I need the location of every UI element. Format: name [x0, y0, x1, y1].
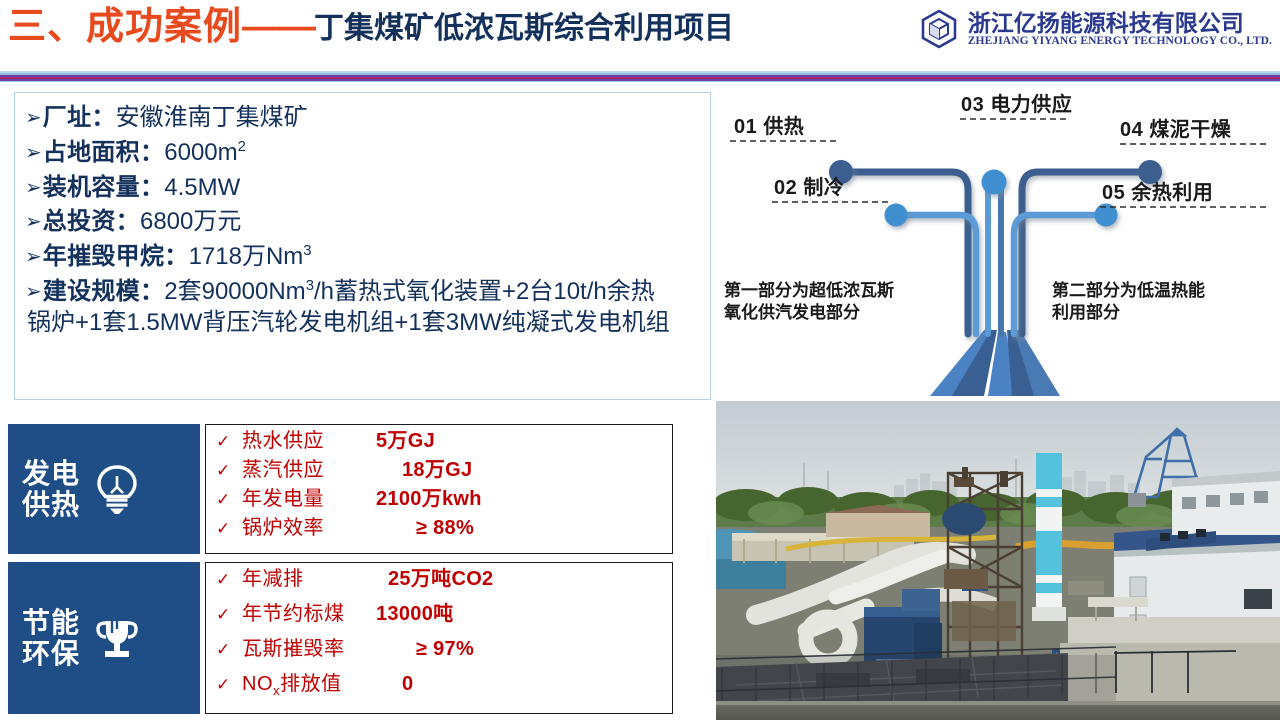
info-label: 年摧毁甲烷：	[43, 242, 189, 271]
diagram-label-num: 01	[734, 116, 757, 138]
slide-header: 三、成功案例 —— 丁集煤矿低浓瓦斯综合利用项目 浙江亿扬能源科技有限公司 ZH…	[0, 0, 1280, 73]
diagram-note-left: 第一部分为超低浓瓦斯 氧化供汽发电部分	[724, 280, 894, 324]
metric-name: 年发电量	[242, 489, 374, 509]
diagram-label-text: 供热	[763, 116, 804, 138]
arrow-bullet-icon: ➢	[25, 175, 42, 199]
metric-value: 2100万kwh	[374, 489, 482, 509]
arrow-bullet-icon: ➢	[25, 209, 42, 233]
plant-photo	[716, 401, 1280, 720]
info-label: 占地面积：	[43, 138, 165, 167]
plant-photo-illustration	[716, 401, 1280, 720]
badge-label: 节能 环保	[22, 607, 80, 670]
diagram-label-num: 04	[1120, 119, 1143, 141]
info-item-investment: ➢ 总投资： 6800万元	[25, 207, 702, 236]
company-logo: 浙江亿扬能源科技有限公司 ZHEJIANG YIYANG ENERGY TECH…	[918, 8, 1272, 50]
arrow-bullet-icon: ➢	[25, 244, 42, 268]
diagram-note-left-line1: 第一部分为超低浓瓦斯	[724, 281, 894, 300]
diagram-note-right-line2: 利用部分	[1052, 303, 1120, 322]
metric-name: 锅炉效率	[242, 518, 374, 538]
arrow-bullet-icon: ➢	[25, 279, 42, 303]
node-02-dot	[885, 204, 908, 227]
diagram-label-num: 05	[1102, 182, 1125, 204]
diagram-note-left-line2: 氧化供汽发电部分	[724, 303, 860, 322]
diagram-label-text: 煤泥干燥	[1149, 119, 1231, 141]
diagram-label-text: 余热利用	[1131, 182, 1213, 204]
diagram-label-05: 05 余热利用	[1102, 176, 1213, 205]
result-panel-energy-saving: 节能 环保 ✓ 年减排 25万吨CO2 ✓	[8, 562, 673, 714]
page-title-dash: ——	[242, 8, 314, 46]
metric-row: ✓ 年发电量 2100万kwh	[216, 489, 672, 518]
metric-row: ✓ 瓦斯摧毁率 ≥ 97%	[216, 639, 672, 674]
metric-name: 瓦斯摧毁率	[242, 639, 374, 659]
info-label: 装机容量：	[43, 173, 165, 202]
info-item-scale-continued: 锅炉+1套1.5MW背压汽轮发电机组+1套3MW纯凝式发电机组	[25, 308, 702, 337]
metrics-list-energy-saving: ✓ 年减排 25万吨CO2 ✓ 年节约标煤 13000吨 ✓ 瓦斯摧毁率 ≥ 9…	[205, 562, 673, 714]
metric-name: 年节约标煤	[242, 604, 374, 624]
info-label: 建设规模：	[43, 277, 165, 306]
metric-row: ✓ 年减排 25万吨CO2	[216, 569, 672, 604]
result-panel-power-heat: 发电 供热 ✓ 热水供应 5万GJ ✓	[8, 424, 673, 554]
diagram-label-03: 03 电力供应	[961, 88, 1072, 117]
badge-label-line1: 节能	[22, 607, 80, 638]
process-tree-diagram: 01 供热 02 制冷 03 电力供应 04 煤泥干燥 05 余热利用 第一部分…	[716, 84, 1280, 398]
metric-value: 18万GJ	[374, 460, 472, 480]
check-icon: ✓	[216, 677, 242, 694]
metric-row: ✓ 锅炉效率 ≥ 88%	[216, 518, 672, 547]
info-value: 安徽淮南丁集煤矿	[116, 103, 308, 132]
metric-name: NOx排放值	[242, 674, 374, 697]
info-label: 厂址：	[43, 103, 116, 132]
lightbulb-icon	[88, 460, 146, 518]
check-icon: ✓	[216, 492, 242, 509]
arrow-bullet-icon: ➢	[25, 140, 42, 164]
info-item-area: ➢ 占地面积： 6000m2	[25, 138, 702, 167]
badge-label-line2: 环保	[22, 638, 80, 669]
check-icon: ✓	[216, 434, 242, 451]
metric-row: ✓ 热水供应 5万GJ	[216, 431, 672, 460]
page-title-sub: 丁集煤矿低浓瓦斯综合利用项目	[314, 14, 734, 46]
metric-value: 5万GJ	[374, 431, 435, 451]
badge-power-heat: 发电 供热	[8, 424, 200, 554]
info-item-scale: ➢ 建设规模： 2套90000Nm3/h蓄热式氧化装置+2台10t/h余热	[25, 277, 702, 306]
diagram-label-02: 02 制冷	[774, 171, 844, 200]
metric-row: ✓ NOx排放值 0	[216, 674, 672, 709]
check-icon: ✓	[216, 572, 242, 589]
check-icon: ✓	[216, 642, 242, 659]
trophy-icon	[88, 609, 146, 667]
hexagon-cube-logo-icon	[918, 8, 960, 50]
badge-label-line2: 供热	[22, 489, 80, 520]
metric-name: 年减排	[242, 569, 374, 589]
company-name-cn: 浙江亿扬能源科技有限公司	[968, 11, 1272, 35]
badge-energy-saving: 节能 环保	[8, 562, 200, 714]
diagram-label-text: 制冷	[803, 177, 844, 199]
info-value: 2套90000Nm3/h蓄热式氧化装置+2台10t/h余热	[164, 277, 654, 306]
info-value: 6000m2	[164, 138, 246, 167]
diagram-label-01: 01 供热	[734, 110, 804, 139]
info-item-methane: ➢ 年摧毁甲烷： 1718万Nm3	[25, 242, 702, 271]
metric-value: 13000吨	[374, 604, 453, 624]
metric-name: 热水供应	[242, 431, 374, 451]
diagram-label-num: 03	[961, 94, 984, 116]
page-title: 三、成功案例 —— 丁集煤矿低浓瓦斯综合利用项目	[8, 8, 734, 46]
page-title-main: 三、成功案例	[8, 8, 242, 46]
check-icon: ✓	[216, 463, 242, 480]
diagram-label-04: 04 煤泥干燥	[1120, 113, 1231, 142]
metric-name: 蒸汽供应	[242, 460, 374, 480]
check-icon: ✓	[216, 607, 242, 624]
company-name-block: 浙江亿扬能源科技有限公司 ZHEJIANG YIYANG ENERGY TECH…	[968, 11, 1272, 47]
node-03-dot	[982, 170, 1007, 195]
check-icon: ✓	[216, 521, 242, 538]
project-info-box: ➢ 厂址： 安徽淮南丁集煤矿 ➢ 占地面积： 6000m2 ➢ 装机容量： 4.…	[14, 92, 711, 400]
striped-stack	[1032, 453, 1066, 621]
metric-value: ≥ 97%	[374, 639, 474, 659]
branch-02	[896, 215, 976, 334]
info-item-site: ➢ 厂址： 安徽淮南丁集煤矿	[25, 103, 702, 132]
metric-value: 25万吨CO2	[374, 569, 493, 589]
info-label: 总投资：	[43, 207, 140, 236]
diagram-label-text: 电力供应	[990, 94, 1072, 116]
diagram-note-right-line1: 第二部分为低温热能	[1052, 281, 1205, 300]
info-value: 1718万Nm3	[189, 242, 312, 271]
metrics-list-power-heat: ✓ 热水供应 5万GJ ✓ 蒸汽供应 18万GJ ✓ 年发电量 2100万kwh…	[205, 424, 673, 554]
badge-label-line1: 发电	[22, 458, 80, 489]
metric-value: 0	[374, 674, 413, 694]
diagram-label-num: 02	[774, 177, 797, 199]
metric-row: ✓ 年节约标煤 13000吨	[216, 604, 672, 639]
arrow-bullet-icon: ➢	[25, 105, 42, 129]
diagram-note-right: 第二部分为低温热能 利用部分	[1052, 280, 1205, 324]
slide-root: 三、成功案例 —— 丁集煤矿低浓瓦斯综合利用项目 浙江亿扬能源科技有限公司 ZH…	[0, 0, 1280, 720]
trunk-fan	[930, 330, 1060, 396]
info-item-capacity: ➢ 装机容量： 4.5MW	[25, 173, 702, 202]
info-value: 6800万元	[140, 207, 241, 236]
decorative-divider	[0, 71, 1280, 82]
metric-row: ✓ 蒸汽供应 18万GJ	[216, 460, 672, 489]
info-value: 4.5MW	[164, 173, 240, 202]
badge-label: 发电 供热	[22, 458, 80, 521]
company-name-en: ZHEJIANG YIYANG ENERGY TECHNOLOGY CO., L…	[968, 35, 1272, 47]
metric-value: ≥ 88%	[374, 518, 474, 538]
